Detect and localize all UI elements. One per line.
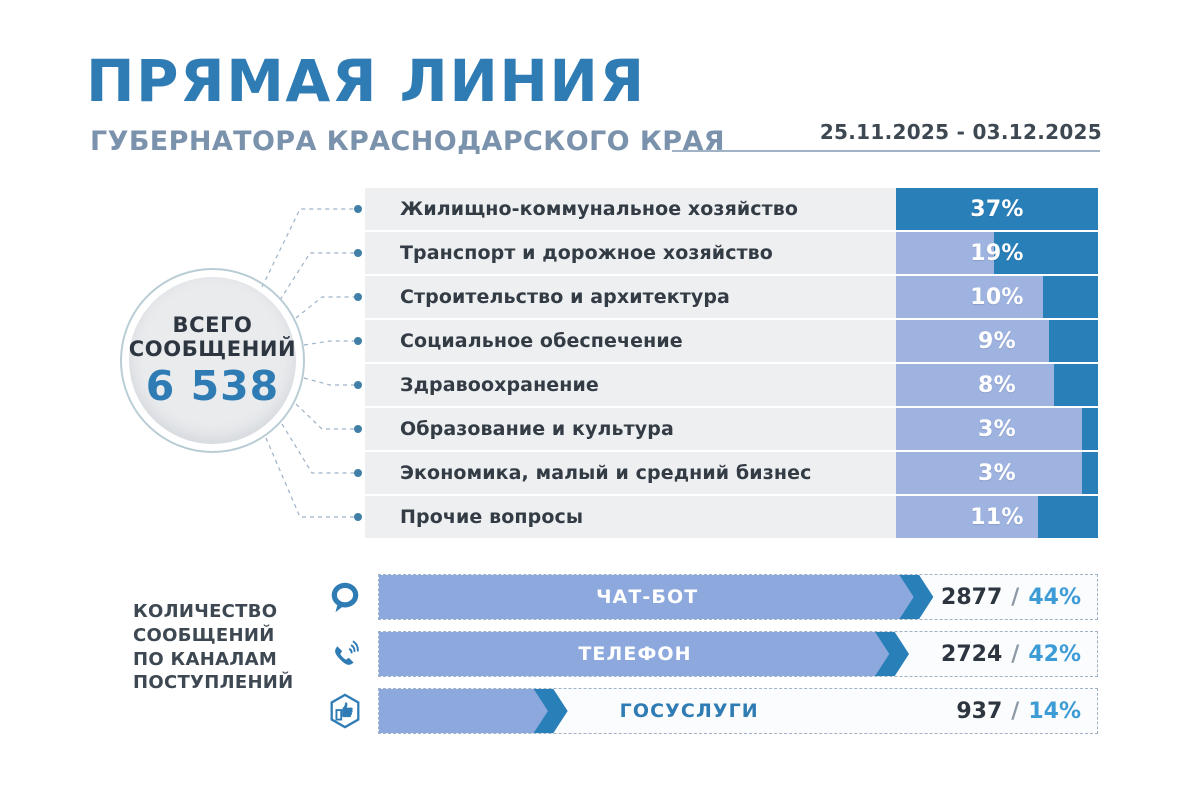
chat-bubble-icon bbox=[322, 574, 368, 620]
channel-count: 2877 bbox=[941, 585, 1002, 610]
ringing-phone-icon bbox=[322, 631, 368, 677]
badge-value: 6 538 bbox=[146, 366, 279, 407]
channel-separator: / bbox=[1011, 642, 1019, 667]
category-label: Социальное обеспечение bbox=[365, 330, 683, 352]
channel-values: 2724/42% bbox=[941, 632, 1081, 676]
channels-title-line-2: СООБЩЕНИЙ bbox=[133, 624, 294, 648]
channel-count: 937 bbox=[956, 699, 1002, 724]
category-row[interactable]: Транспорт и дорожное хозяйство19% bbox=[365, 232, 1098, 274]
category-label: Здравоохранение bbox=[365, 374, 599, 396]
channels-section-title: КОЛИЧЕСТВОСООБЩЕНИЙПО КАНАЛАМПОСТУПЛЕНИЙ bbox=[133, 600, 294, 695]
channel-percent: 14% bbox=[1028, 699, 1081, 724]
channel-row[interactable]: ГОСУСЛУГИ937/14% bbox=[322, 688, 1098, 734]
category-row[interactable]: Прочие вопросы11% bbox=[365, 496, 1098, 538]
channels-bar-chart: ЧАТ-БОТ2877/44%ТЕЛЕФОН2724/42%ГОСУСЛУГИ9… bbox=[322, 574, 1098, 745]
category-percent: 11% bbox=[896, 496, 1098, 538]
channel-percent: 42% bbox=[1028, 642, 1081, 667]
category-row[interactable]: Жилищно-коммунальное хозяйство37% bbox=[365, 188, 1098, 230]
page-title: ПРЯМАЯ ЛИНИЯ bbox=[86, 52, 646, 110]
category-row[interactable]: Экономика, малый и средний бизнес3% bbox=[365, 452, 1098, 494]
category-percent: 19% bbox=[896, 232, 1098, 274]
badge-label-line1: ВСЕГО bbox=[173, 314, 253, 338]
badge-body: ВСЕГО СООБЩЕНИЙ 6 538 bbox=[129, 277, 296, 444]
category-label: Прочие вопросы bbox=[365, 506, 583, 528]
category-percent: 3% bbox=[896, 408, 1098, 450]
page-subtitle: ГУБЕРНАТОРА КРАСНОДАРСКОГО КРАЯ bbox=[90, 128, 725, 155]
channel-track: ЧАТ-БОТ2877/44% bbox=[378, 574, 1098, 620]
channel-track: ГОСУСЛУГИ937/14% bbox=[378, 688, 1098, 734]
thumbs-up-hexagon-icon bbox=[322, 688, 368, 734]
category-label: Экономика, малый и средний бизнес bbox=[365, 462, 811, 484]
channel-row[interactable]: ЧАТ-БОТ2877/44% bbox=[322, 574, 1098, 620]
channel-count: 2724 bbox=[941, 642, 1002, 667]
badge-label-line2: СООБЩЕНИЙ bbox=[129, 338, 296, 362]
category-row[interactable]: Здравоохранение8% bbox=[365, 364, 1098, 406]
category-row[interactable]: Строительство и архитектура10% bbox=[365, 276, 1098, 318]
header-divider bbox=[672, 150, 1100, 152]
channel-percent: 44% bbox=[1028, 585, 1081, 610]
category-bar-chart: Жилищно-коммунальное хозяйство37%Транспо… bbox=[365, 188, 1098, 540]
channel-track: ТЕЛЕФОН2724/42% bbox=[378, 631, 1098, 677]
channel-values: 937/14% bbox=[956, 689, 1081, 733]
channels-title-line-4: ПОСТУПЛЕНИЙ bbox=[133, 671, 294, 695]
date-range: 25.11.2025 - 03.12.2025 bbox=[820, 120, 1102, 144]
category-percent: 8% bbox=[896, 364, 1098, 406]
infographic-canvas: ПРЯМАЯ ЛИНИЯ ГУБЕРНАТОРА КРАСНОДАРСКОГО … bbox=[0, 0, 1200, 800]
category-label: Жилищно-коммунальное хозяйство bbox=[365, 198, 798, 220]
category-label: Образование и культура bbox=[365, 418, 674, 440]
category-percent: 3% bbox=[896, 452, 1098, 494]
category-percent: 10% bbox=[896, 276, 1098, 318]
channel-separator: / bbox=[1011, 585, 1019, 610]
channel-label: ТЕЛЕФОН bbox=[379, 632, 891, 676]
channel-fill bbox=[379, 689, 550, 733]
total-messages-badge: ВСЕГО СООБЩЕНИЙ 6 538 bbox=[120, 268, 305, 453]
category-row[interactable]: Образование и культура3% bbox=[365, 408, 1098, 450]
channels-title-line-3: ПО КАНАЛАМ bbox=[133, 648, 294, 672]
channel-separator: / bbox=[1011, 699, 1019, 724]
category-row[interactable]: Социальное обеспечение9% bbox=[365, 320, 1098, 362]
channel-label: ЧАТ-БОТ bbox=[379, 575, 915, 619]
category-percent: 9% bbox=[896, 320, 1098, 362]
category-percent: 37% bbox=[896, 188, 1098, 230]
channels-title-line-1: КОЛИЧЕСТВО bbox=[133, 600, 294, 624]
category-label: Транспорт и дорожное хозяйство bbox=[365, 242, 773, 264]
category-label: Строительство и архитектура bbox=[365, 286, 730, 308]
channel-label: ГОСУСЛУГИ bbox=[620, 689, 759, 733]
channel-values: 2877/44% bbox=[941, 575, 1081, 619]
channel-row[interactable]: ТЕЛЕФОН2724/42% bbox=[322, 631, 1098, 677]
